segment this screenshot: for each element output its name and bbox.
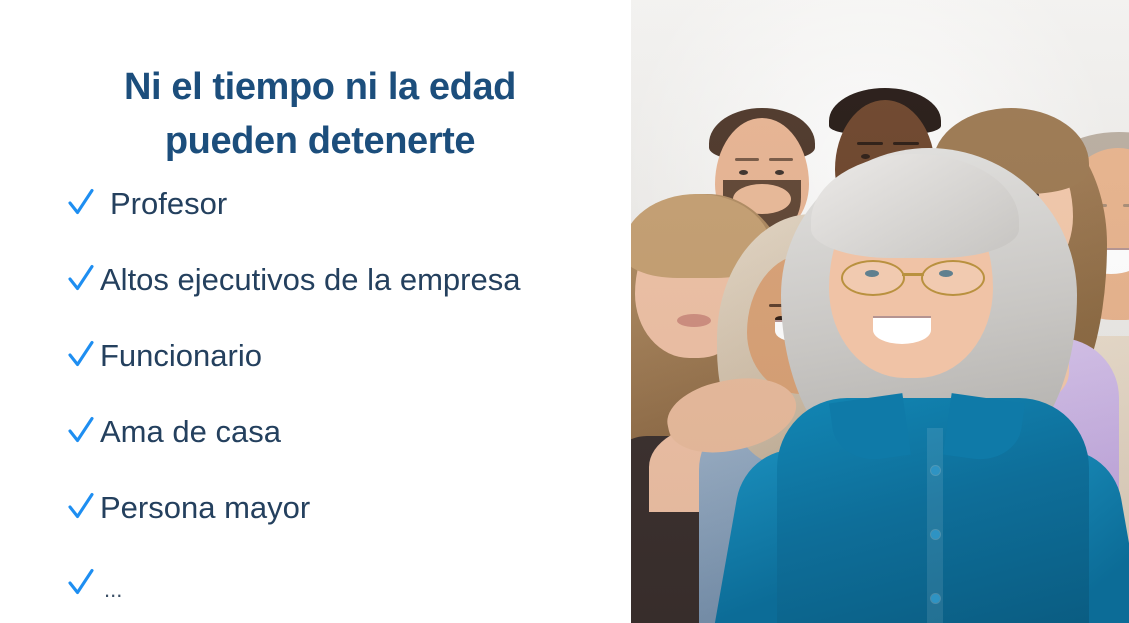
page-title-line-2: pueden detenerte bbox=[40, 115, 600, 169]
brow-right bbox=[1123, 204, 1129, 207]
text-panel: Ni el tiempo ni la edad pueden detenerte… bbox=[0, 0, 631, 623]
page-title: Ni el tiempo ni la edad pueden detenerte bbox=[40, 61, 600, 169]
check-icon bbox=[68, 187, 94, 217]
check-icon bbox=[68, 567, 94, 597]
page-title-line-1: Ni el tiempo ni la edad bbox=[40, 61, 600, 115]
list-item-label: Funcionario bbox=[100, 340, 262, 371]
list-item: Altos ejecutivos de la empresa bbox=[68, 251, 623, 307]
person-woman-silver-hair bbox=[781, 148, 1081, 623]
list-item-label: Persona mayor bbox=[100, 492, 310, 523]
eye-left bbox=[739, 170, 748, 175]
bullet-list: Profesor Altos ejecutivos de la empresa … bbox=[68, 175, 623, 611]
glasses-icon bbox=[839, 260, 987, 294]
smile bbox=[873, 316, 931, 344]
list-item: Funcionario bbox=[68, 327, 623, 383]
shirt-button bbox=[931, 594, 940, 603]
photo-backdrop bbox=[631, 0, 1129, 623]
check-icon bbox=[68, 263, 94, 293]
lens-right bbox=[921, 260, 985, 296]
list-item: ... bbox=[68, 555, 623, 611]
list-item-label: ... bbox=[100, 579, 122, 601]
check-icon bbox=[68, 491, 94, 521]
check-icon bbox=[68, 415, 94, 445]
shirt-button bbox=[931, 530, 940, 539]
lips bbox=[677, 314, 711, 327]
brow-right bbox=[893, 142, 919, 145]
slide-canvas: Ni el tiempo ni la edad pueden detenerte… bbox=[0, 0, 1129, 623]
brow-left bbox=[857, 142, 883, 145]
list-item: Profesor bbox=[68, 175, 623, 231]
list-item-label: Altos ejecutivos de la empresa bbox=[100, 264, 520, 295]
group-photo bbox=[631, 0, 1129, 623]
brow-left bbox=[735, 158, 759, 161]
list-item: Persona mayor bbox=[68, 479, 623, 535]
list-item: Ama de casa bbox=[68, 403, 623, 459]
shirt-button bbox=[931, 466, 940, 475]
list-item-label: Profesor bbox=[110, 188, 227, 219]
list-item-label: Ama de casa bbox=[100, 416, 281, 447]
lens-left bbox=[841, 260, 905, 296]
check-icon bbox=[68, 339, 94, 369]
